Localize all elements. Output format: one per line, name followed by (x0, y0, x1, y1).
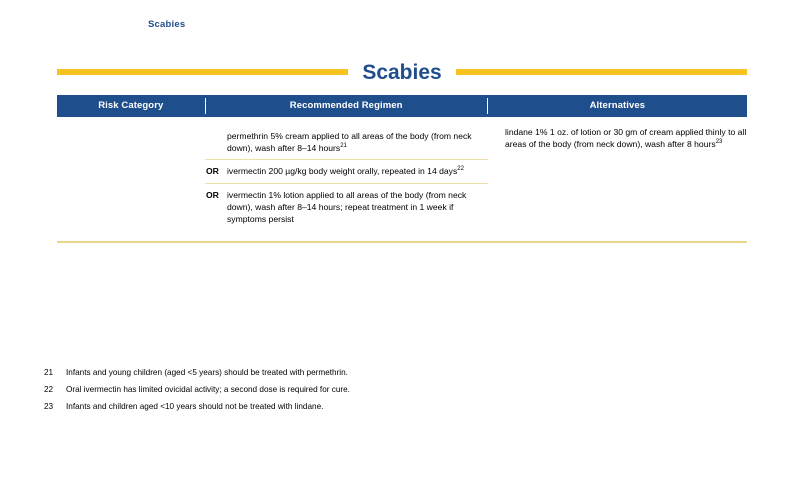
footnote-item: 23 Infants and children aged <10 years s… (44, 398, 644, 415)
alternative-text: lindane 1% 1 oz. of lotion or 30 gm of c… (505, 125, 747, 150)
page-title: Scabies (362, 62, 441, 83)
footnote-text: Infants and young children (aged <5 year… (66, 364, 644, 381)
regimen-body: ivermectin 200 µg/kg body weight orally,… (227, 166, 457, 176)
cell-risk-category (57, 125, 205, 230)
footnote-number: 23 (44, 398, 66, 415)
regimen-item: permethrin 5% cream applied to all areas… (205, 125, 488, 159)
alternative-body: lindane 1% 1 oz. of lotion or 30 gm of c… (505, 127, 746, 149)
regimen-body: ivermectin 1% lotion applied to all area… (227, 190, 466, 224)
table-body: permethrin 5% cream applied to all areas… (57, 117, 747, 230)
footnote-ref: 21 (340, 143, 347, 149)
cell-recommended-regimen: permethrin 5% cream applied to all areas… (205, 125, 488, 230)
footnote-number: 21 (44, 364, 66, 381)
regimen-body: permethrin 5% cream applied to all areas… (227, 131, 472, 153)
footnote-item: 21 Infants and young children (aged <5 y… (44, 364, 644, 381)
regimen-item: OR ivermectin 200 µg/kg body weight oral… (205, 159, 488, 182)
column-header-alternatives: Alternatives (488, 95, 747, 117)
treatment-table: Risk Category Recommended Regimen Altern… (57, 95, 747, 230)
connector-or: OR (205, 165, 227, 177)
regimen-text: ivermectin 200 µg/kg body weight orally,… (227, 165, 464, 177)
title-band: Scabies (57, 58, 747, 86)
table-bottom-rule (57, 241, 747, 243)
footnote-ref: 23 (716, 139, 723, 145)
column-header-risk-category: Risk Category (57, 95, 205, 117)
footnote-ref: 22 (457, 167, 464, 173)
regimen-text: permethrin 5% cream applied to all areas… (227, 130, 488, 154)
column-header-recommended-regimen: Recommended Regimen (206, 95, 487, 117)
footnote-item: 22 Oral ivermectin has limited ovicidal … (44, 381, 644, 398)
table-header-row: Risk Category Recommended Regimen Altern… (57, 95, 747, 117)
footnote-number: 22 (44, 381, 66, 398)
footnotes: 21 Infants and young children (aged <5 y… (44, 364, 644, 415)
footnote-text: Oral ivermectin has limited ovicidal act… (66, 381, 644, 398)
title-rule-left (57, 69, 348, 75)
footnote-text: Infants and children aged <10 years shou… (66, 398, 644, 415)
regimen-text: ivermectin 1% lotion applied to all area… (227, 189, 488, 226)
title-rule-right (456, 69, 747, 75)
connector-or: OR (205, 189, 227, 201)
running-head: Scabies (148, 19, 185, 30)
regimen-item: OR ivermectin 1% lotion applied to all a… (205, 183, 488, 231)
cell-alternatives: lindane 1% 1 oz. of lotion or 30 gm of c… (488, 125, 747, 230)
